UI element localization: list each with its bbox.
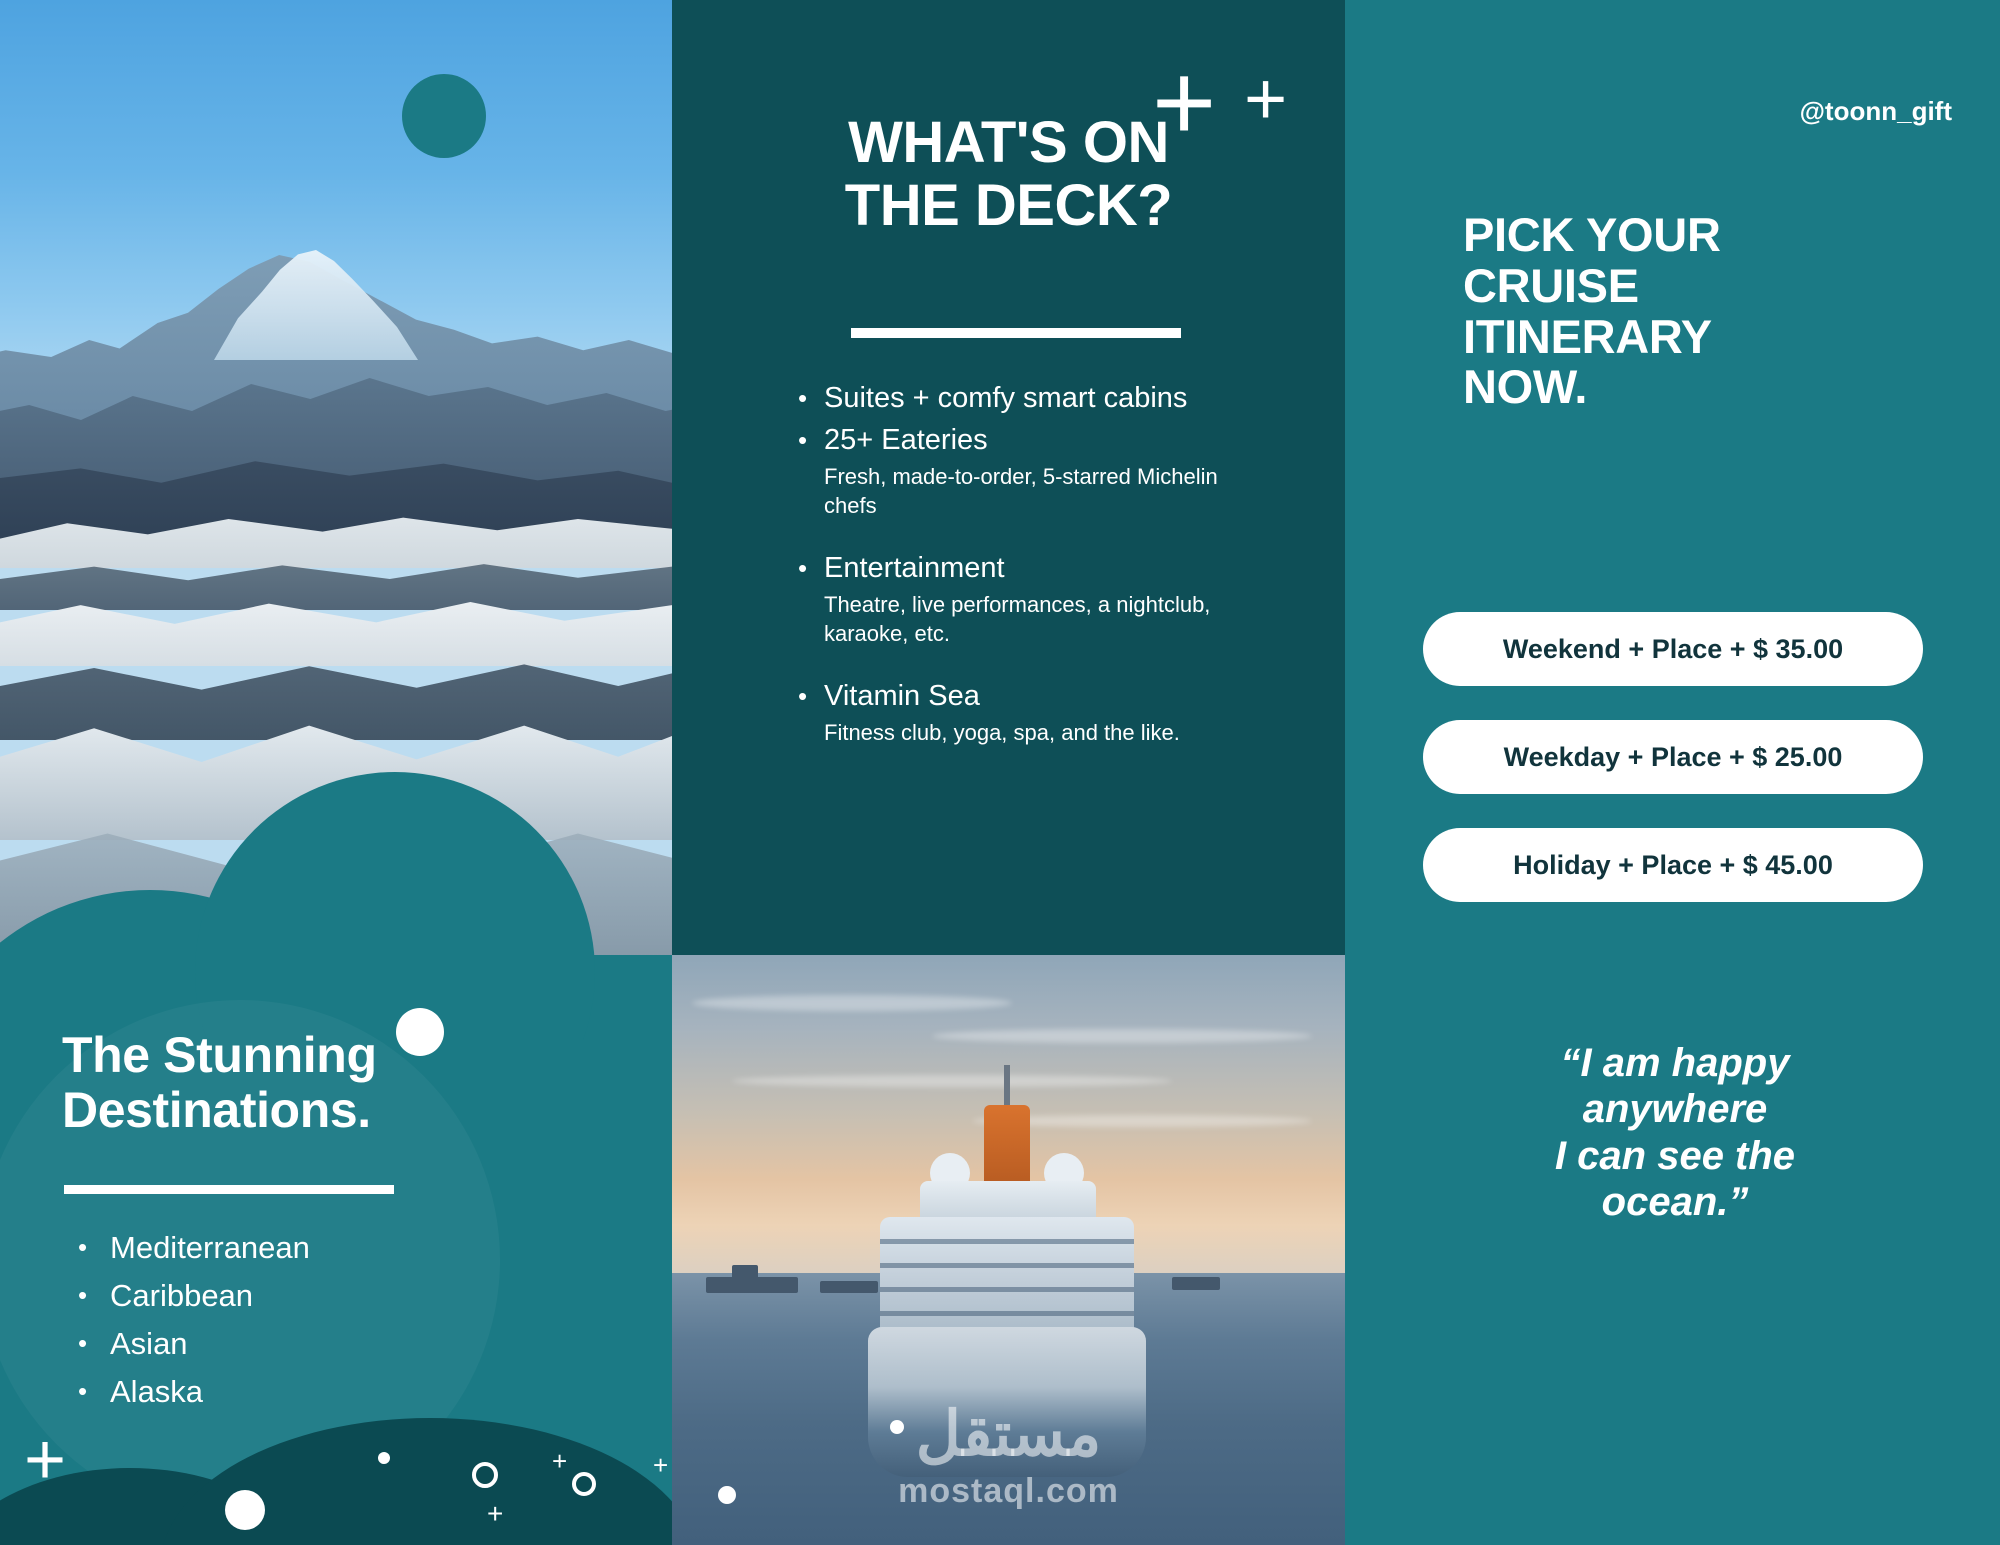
list-item: • Alaska (78, 1372, 498, 1413)
pricing-option-holiday[interactable]: Holiday + Place + $ 45.00 (1423, 828, 1923, 902)
list-item: • Entertainment Theatre, live performanc… (798, 550, 1218, 648)
quote-line1: “I am happy (1561, 1041, 1790, 1085)
background-vessel (820, 1281, 878, 1293)
pricing-option-weekend[interactable]: Weekend + Place + $ 35.00 (1423, 612, 1923, 686)
list-item: • Caribbean (78, 1276, 498, 1317)
pricing-option-label: Holiday + Place + $ 45.00 (1513, 850, 1833, 881)
list-item: • Suites + comfy smart cabins (798, 380, 1218, 418)
ship-deck-line (880, 1263, 1134, 1268)
decorative-circle-icon (402, 74, 486, 158)
background-vessel (732, 1265, 758, 1279)
feature-title: Suites + comfy smart cabins (824, 380, 1187, 418)
pricing-options-list: Weekend + Place + $ 35.00 Weekday + Plac… (1423, 612, 1923, 936)
bullet-icon: • (798, 422, 824, 460)
background-vessel (1172, 1277, 1220, 1290)
bullet-icon: • (78, 1228, 110, 1267)
quote-line3: I can see the (1555, 1134, 1795, 1178)
feature-title: Vitamin Sea (824, 678, 980, 716)
ship-photo-cloud (692, 995, 1012, 1011)
list-item: • Asian (78, 1324, 498, 1365)
ship-photo-cloud (732, 1075, 1172, 1087)
decorative-circle-icon (718, 1486, 736, 1504)
deck-heading-line1: WHAT'S ON (848, 110, 1169, 175)
feature-description: Fresh, made-to-order, 5-starred Michelin… (824, 463, 1218, 519)
destinations-title-line2: Destinations. (62, 1082, 371, 1138)
ship-photo-cloud (932, 1029, 1312, 1043)
plus-icon: + (1152, 48, 1216, 158)
destination-label: Alaska (110, 1372, 203, 1413)
plus-icon: + (653, 1452, 668, 1478)
ship-decks (880, 1217, 1134, 1337)
ship-funnel (984, 1105, 1030, 1185)
cruise-ship-photo (672, 955, 1345, 1545)
plus-icon: + (552, 1448, 567, 1474)
list-item: • Mediterranean (78, 1228, 498, 1269)
pricing-option-label: Weekday + Place + $ 25.00 (1504, 742, 1843, 773)
social-handle[interactable]: @toonn_gift (1345, 96, 2000, 127)
panel-left: The Stunning Destinations. • Mediterrane… (0, 0, 672, 1545)
deck-heading-line2: THE DECK? (845, 173, 1172, 238)
cta-heading-line4: NOW. (1463, 360, 1587, 413)
ship-deck-line (880, 1311, 1134, 1316)
brochure-trifold: The Stunning Destinations. • Mediterrane… (0, 0, 2000, 1545)
spacer (798, 652, 1218, 678)
ship-hull (868, 1327, 1146, 1477)
background-vessel (706, 1277, 798, 1293)
quote-line4: ocean.” (1602, 1180, 1749, 1224)
destinations-list: • Mediterranean • Caribbean • Asian • Al… (78, 1228, 498, 1420)
bullet-icon: • (798, 550, 824, 588)
cta-heading-line1: PICK YOUR (1463, 208, 1721, 261)
bullet-icon: • (78, 1372, 110, 1411)
plus-icon: + (24, 1424, 66, 1496)
ship-deck-line (880, 1239, 1134, 1244)
quote-line2: anywhere (1583, 1087, 1768, 1131)
feature-title: Entertainment (824, 550, 1005, 588)
feature-description: Theatre, live performances, a nightclub,… (824, 591, 1218, 647)
decorative-circle-icon (225, 1490, 265, 1530)
destinations-divider (64, 1185, 394, 1194)
destination-label: Asian (110, 1324, 188, 1365)
deck-divider (851, 328, 1181, 338)
deck-heading: WHAT'S ON THE DECK? (672, 112, 1345, 237)
feature-title: 25+ Eateries (824, 422, 988, 460)
list-item: • Vitamin Sea Fitness club, yoga, spa, a… (798, 678, 1218, 748)
plus-icon: + (487, 1500, 503, 1528)
decorative-circle-icon (396, 1008, 444, 1056)
cta-heading-line3: ITINERARY (1463, 310, 1712, 363)
cta-heading-line2: CRUISE (1463, 259, 1639, 312)
list-item: • 25+ Eateries Fresh, made-to-order, 5-s… (798, 422, 1218, 520)
decorative-ring-icon (572, 1472, 596, 1496)
destinations-title-line1: The Stunning (62, 1027, 377, 1083)
ocean-quote: “I am happy anywhere I can see the ocean… (1450, 1040, 1900, 1226)
cruise-cta-heading: PICK YOUR CRUISE ITINERARY NOW. (1463, 210, 1893, 413)
bullet-icon: • (78, 1324, 110, 1363)
ship-deck-line (880, 1287, 1134, 1292)
bullet-icon: • (798, 380, 824, 418)
bullet-icon: • (798, 678, 824, 716)
feature-description: Fitness club, yoga, spa, and the like. (824, 719, 1218, 747)
decorative-circle-icon (890, 1420, 904, 1434)
deck-features-list: • Suites + comfy smart cabins • 25+ Eate… (798, 380, 1218, 752)
spacer (798, 524, 1218, 550)
pricing-option-weekday[interactable]: Weekday + Place + $ 25.00 (1423, 720, 1923, 794)
decorative-circle-icon (378, 1452, 390, 1464)
destination-label: Caribbean (110, 1276, 253, 1317)
destination-label: Mediterranean (110, 1228, 310, 1269)
pricing-option-label: Weekend + Place + $ 35.00 (1503, 634, 1843, 665)
decorative-ring-icon (472, 1462, 498, 1488)
bullet-icon: • (78, 1276, 110, 1315)
